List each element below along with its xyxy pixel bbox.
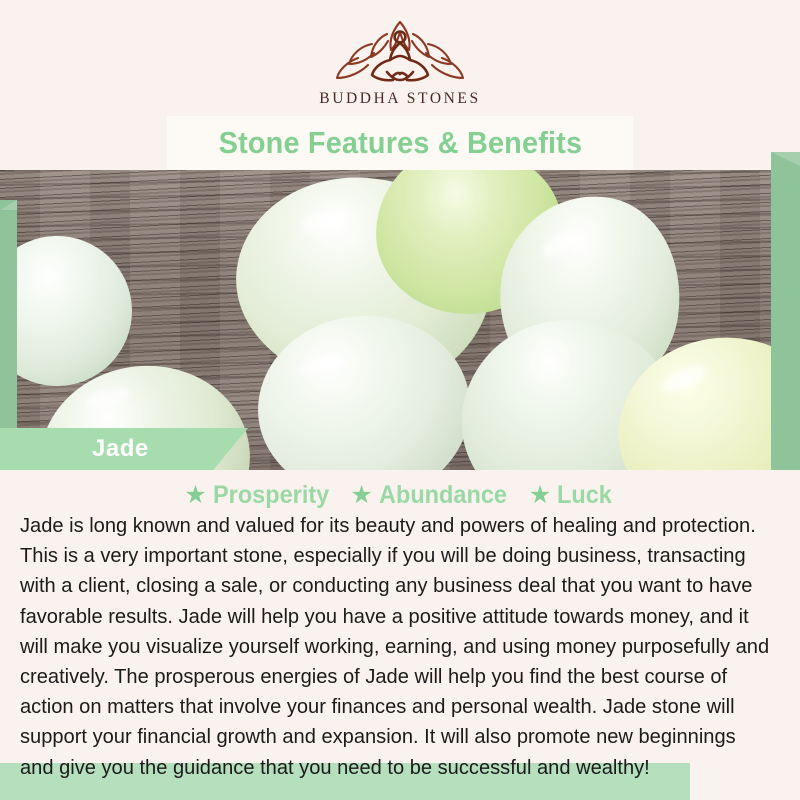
lotus-meditation-icon — [325, 14, 475, 86]
benefit-label: Luck — [557, 481, 612, 510]
star-icon: ★ — [184, 483, 206, 508]
benefit-label: Abundance — [379, 481, 507, 510]
title-banner: Stone Features & Benefits — [167, 116, 633, 170]
stone-name-label: Jade — [92, 428, 149, 470]
benefit-item: ★ Abundance — [350, 481, 515, 510]
star-icon: ★ — [350, 483, 372, 508]
brand-logo-group: BUDDHA STONES — [0, 14, 800, 108]
page-title: Stone Features & Benefits — [218, 125, 582, 161]
benefits-row: ★ Prosperity ★ Abundance ★ Luck — [0, 478, 800, 512]
stone-description: Jade is long known and valued for its be… — [20, 511, 773, 783]
stone-photo — [0, 170, 800, 470]
benefit-item: ★ Luck — [529, 481, 616, 510]
infographic-page: BUDDHA STONES Stone Features & Benefits … — [0, 0, 800, 800]
star-icon: ★ — [529, 483, 551, 508]
benefit-label: Prosperity — [213, 481, 329, 510]
benefit-item: ★ Prosperity — [184, 481, 336, 510]
frame-accent-right — [771, 152, 800, 470]
brand-name: BUDDHA STONES — [319, 90, 480, 108]
